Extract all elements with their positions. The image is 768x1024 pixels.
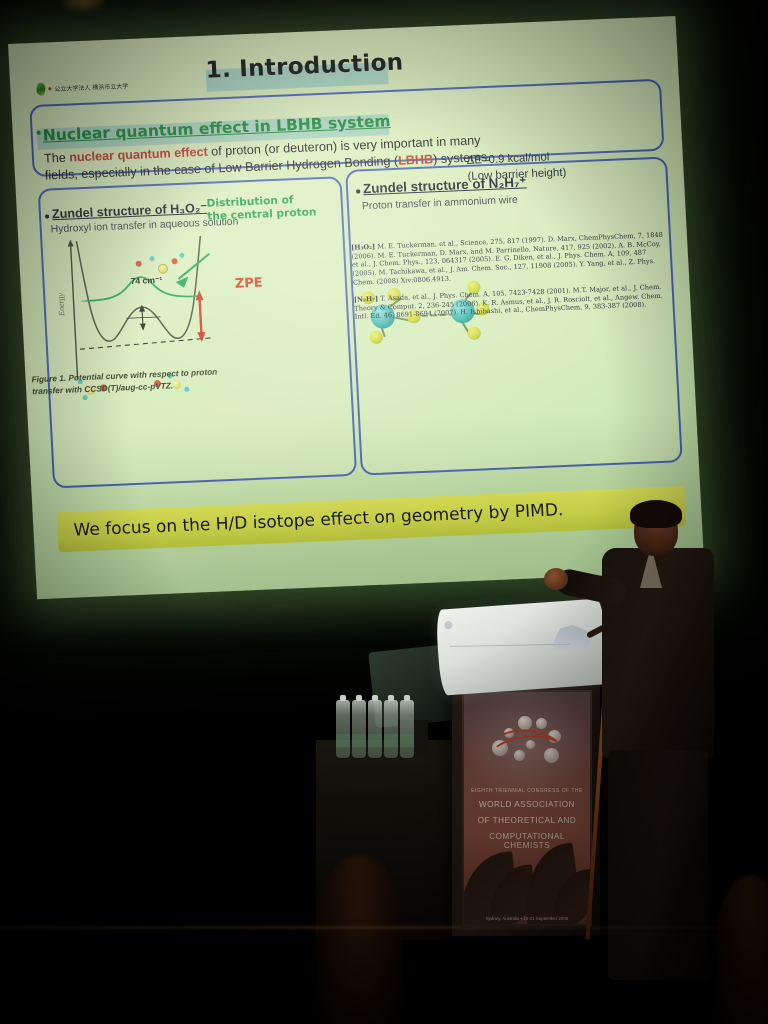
- poster-footer: Sydney, Australia • 16-21 September 2008: [468, 916, 586, 921]
- presenter-hand: [544, 568, 568, 590]
- water-bottles: [336, 700, 420, 762]
- h3o2-bullet-dot-icon: [45, 214, 49, 218]
- laptop-brand-icon: [444, 621, 453, 630]
- watoc-congress-logo: [482, 714, 574, 774]
- n2h7-bullet-dot-icon: [356, 189, 360, 193]
- poster-line-1: WORLD ASSOCIATION: [468, 800, 586, 809]
- presenter-laptop-lid: [435, 598, 609, 696]
- auditorium-scene: 公立大学法人 横浜市立大学 1. Introduction Nuclear qu…: [0, 0, 768, 1024]
- delta-e-annotation: ΔE=0.9 kcal/mol (Low barrier height): [466, 150, 566, 186]
- presenter-at-lectern: [600, 500, 720, 980]
- university-logo: 公立大学法人 横浜市立大学: [36, 79, 129, 96]
- lectern-poster: EIGHTH TRIENNIAL CONGRESS OF THE WORLD A…: [462, 690, 592, 926]
- wavenumber-label: 74 cm⁻¹: [130, 275, 162, 287]
- energy-axis-label: Energy: [56, 293, 66, 316]
- leaf-icon: [36, 82, 46, 95]
- audience-head: [316, 856, 402, 1024]
- ceiling-spotlight: [60, 0, 106, 12]
- water-bottle: [400, 700, 414, 758]
- water-bottle: [336, 700, 350, 758]
- water-bottle: [384, 700, 398, 758]
- audience-head: [716, 876, 768, 1024]
- water-bottle: [352, 700, 366, 758]
- university-logo-text: 公立大学法人 横浜市立大学: [54, 81, 128, 93]
- laptop-lid-graphic: [552, 621, 590, 649]
- lid-highlight: [450, 644, 570, 647]
- water-bottle: [368, 700, 382, 758]
- sydney-opera-house-silhouette: [464, 832, 590, 924]
- zpe-label: ZPE: [234, 276, 263, 292]
- presenter-hair: [630, 500, 682, 528]
- poster-line-0: EIGHTH TRIENNIAL CONGRESS OF THE: [468, 788, 586, 794]
- poster-line-2: OF THEORETICAL AND: [468, 816, 586, 825]
- stage-edge: [0, 926, 768, 929]
- distribution-annotation: Distribution of the central proton: [206, 193, 317, 224]
- presenter-legs: [608, 750, 708, 980]
- dot-icon: [48, 87, 51, 90]
